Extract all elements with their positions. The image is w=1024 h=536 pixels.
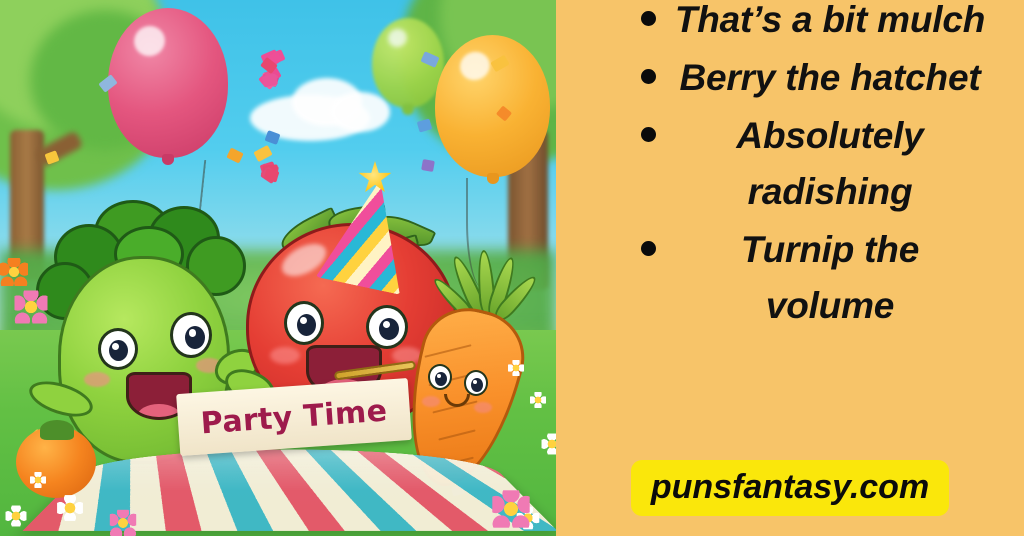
puns-bullet-list: That’s a bit mulch Berry the hatchet Abs… xyxy=(556,0,1024,336)
bullet-icon xyxy=(641,127,656,142)
balloon-knot xyxy=(487,173,499,184)
daisy-flower xyxy=(30,472,46,488)
carrot-eye-right xyxy=(464,370,488,396)
list-item: Absolutely radishing xyxy=(556,108,1024,220)
mini-tomato-prop xyxy=(16,420,96,498)
daisy-flower xyxy=(508,360,524,376)
yellow-balloon xyxy=(435,35,550,177)
broccoli-pupil xyxy=(109,340,128,361)
balloon-highlight xyxy=(456,47,494,85)
pun-text: Turnip the volume xyxy=(674,222,1012,334)
pun-text: Absolutely radishing xyxy=(674,108,1012,220)
pink-flower xyxy=(15,291,48,324)
broccoli-eye-right xyxy=(170,312,212,358)
mini-tomato-stem xyxy=(40,420,74,440)
pun-text: That’s a bit mulch xyxy=(674,0,1012,48)
pink-flower xyxy=(492,490,529,527)
tomato-eye-left xyxy=(284,301,324,345)
pun-text: Berry the hatchet xyxy=(674,50,1012,106)
website-badge[interactable]: punsfantasy.com xyxy=(631,460,949,516)
bullet-column xyxy=(556,50,674,84)
carrot-cheek xyxy=(422,396,440,407)
cloud xyxy=(330,92,390,132)
orange-flower xyxy=(0,258,28,286)
daisy-flower xyxy=(530,392,546,408)
list-item: Turnip the volume xyxy=(556,222,1024,334)
carrot-pupil xyxy=(435,372,447,386)
carrot-cheek xyxy=(474,402,492,413)
website-badge-wrapper: punsfantasy.com xyxy=(556,460,1024,516)
bullet-icon xyxy=(641,11,656,26)
puns-text-panel: That’s a bit mulch Berry the hatchet Abs… xyxy=(556,0,1024,536)
list-item: That’s a bit mulch xyxy=(556,0,1024,48)
pink-balloon xyxy=(108,8,228,158)
list-item: Berry the hatchet xyxy=(556,50,1024,106)
bullet-column xyxy=(556,108,674,142)
pun-graphic-page: Party Time That’s a bit mulch Berry the … xyxy=(0,0,1024,536)
tomato-pupil xyxy=(297,314,316,336)
party-time-banner-text: Party Time xyxy=(200,393,389,441)
balloon-highlight xyxy=(130,21,170,60)
tomato-pupil xyxy=(379,318,399,340)
broccoli-eye-left xyxy=(98,328,138,370)
balloon-highlight xyxy=(385,26,409,50)
vegetable-party-illustration: Party Time xyxy=(0,0,556,536)
carrot-pupil xyxy=(471,378,483,392)
daisy-flower xyxy=(6,506,27,527)
bullet-icon xyxy=(641,69,656,84)
tomato-cheek xyxy=(270,347,300,364)
broccoli-pupil xyxy=(185,326,205,349)
confetti-piece xyxy=(421,159,435,172)
carrot-eye-left xyxy=(428,364,452,390)
bullet-column xyxy=(556,222,674,256)
balloon-knot xyxy=(162,154,174,165)
daisy-flower xyxy=(542,434,556,455)
balloon-knot xyxy=(402,104,414,115)
bullet-icon xyxy=(641,241,656,256)
broccoli-cheek xyxy=(84,372,110,387)
bullet-column xyxy=(556,0,674,26)
daisy-flower xyxy=(57,495,83,521)
pink-flower xyxy=(110,510,136,536)
